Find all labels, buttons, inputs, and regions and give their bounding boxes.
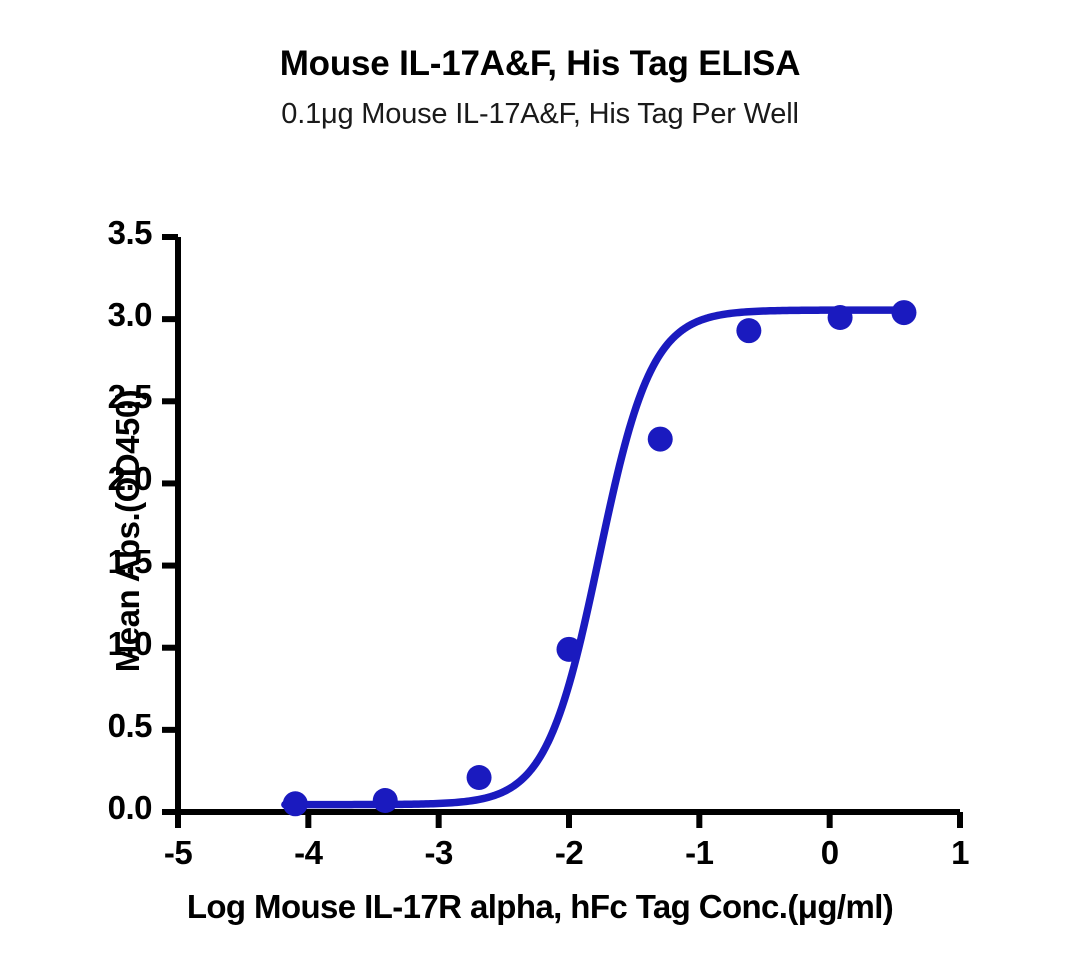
data-point-marker — [373, 788, 398, 813]
y-axis-label: Mean Abs.(OD450) — [109, 231, 147, 831]
series-line — [285, 310, 907, 805]
x-tick-label: 0 — [800, 834, 860, 872]
x-tick-label: -4 — [278, 834, 338, 872]
x-tick-label: -3 — [409, 834, 469, 872]
data-point-marker — [557, 637, 582, 662]
chart-page: Mouse IL-17A&F, His Tag ELISA 0.1μg Mous… — [0, 0, 1080, 975]
data-point-marker — [648, 427, 673, 452]
data-point-marker — [283, 791, 308, 816]
data-point-marker — [467, 765, 492, 790]
x-tick-label: 1 — [930, 834, 990, 872]
x-axis-label: Log Mouse IL-17R alpha, hFc Tag Conc.(μg… — [0, 888, 1080, 926]
series-group — [283, 300, 917, 816]
data-point-marker — [828, 305, 853, 330]
x-tick-label: -2 — [539, 834, 599, 872]
data-point-marker — [736, 318, 761, 343]
x-tick-label: -1 — [669, 834, 729, 872]
x-tick-label: -5 — [148, 834, 208, 872]
chart-canvas — [0, 0, 1080, 975]
data-point-marker — [891, 300, 916, 325]
plot-area: 0.00.51.01.52.02.53.03.5 -5-4-3-2-101 Me… — [0, 0, 1080, 975]
